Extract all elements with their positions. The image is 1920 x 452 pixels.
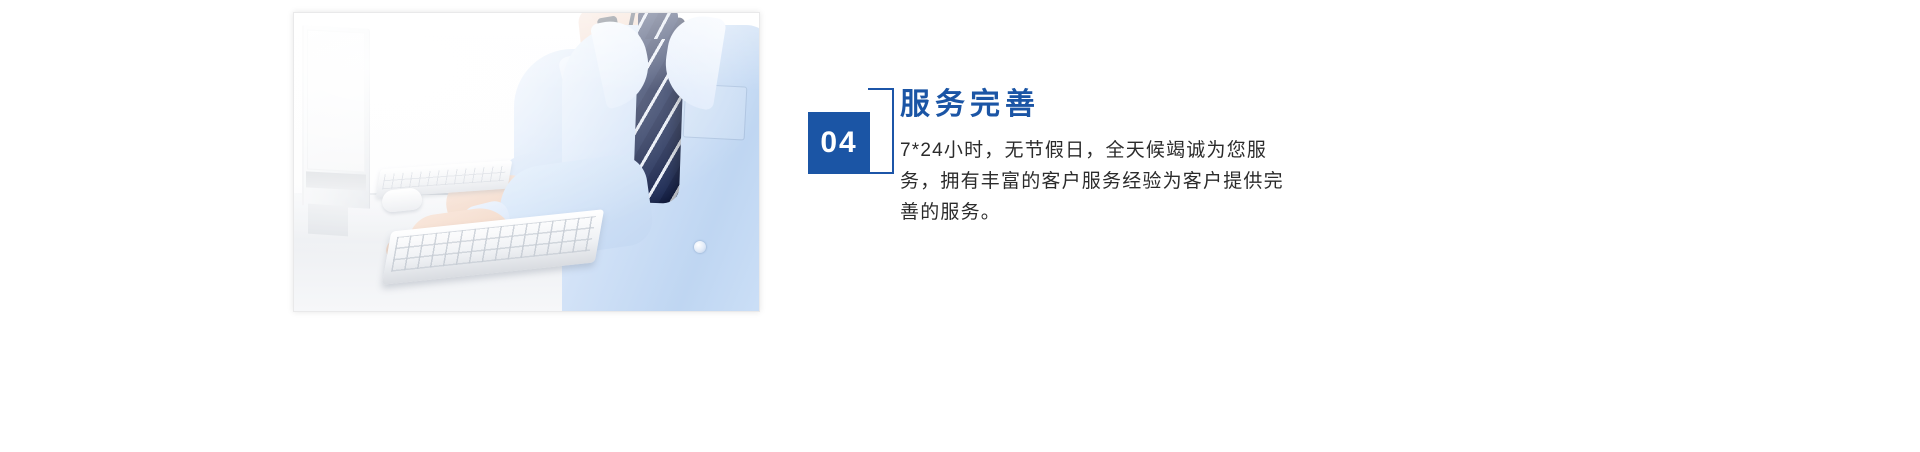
monitor-chin bbox=[306, 171, 366, 190]
photo-canvas bbox=[294, 13, 759, 311]
feature-text-block: 服务完善 7*24小时，无节假日，全天候竭诚为您服务，拥有丰富的客户服务经验为客… bbox=[900, 88, 1330, 228]
monitor-screen bbox=[307, 29, 365, 172]
computer-monitor bbox=[302, 25, 370, 209]
feature-number-badge: 04 bbox=[808, 88, 894, 186]
agent-with-striped-tie bbox=[562, 25, 760, 312]
service-feature-banner: 04 服务完善 7*24小时，无节假日，全天候竭诚为您服务，拥有丰富的客户服务经… bbox=[0, 0, 1920, 452]
badge-number-label: 04 bbox=[808, 112, 870, 174]
call-center-agents-photo bbox=[293, 12, 760, 312]
monitor-stand bbox=[308, 204, 348, 237]
feature-heading: 服务完善 bbox=[900, 88, 1330, 121]
badge-outline-square bbox=[868, 88, 894, 174]
agent-b-shirt-button bbox=[694, 241, 706, 253]
feature-description: 7*24小时，无节假日，全天候竭诚为您服务，拥有丰富的客户服务经验为客户提供完善… bbox=[900, 135, 1300, 228]
